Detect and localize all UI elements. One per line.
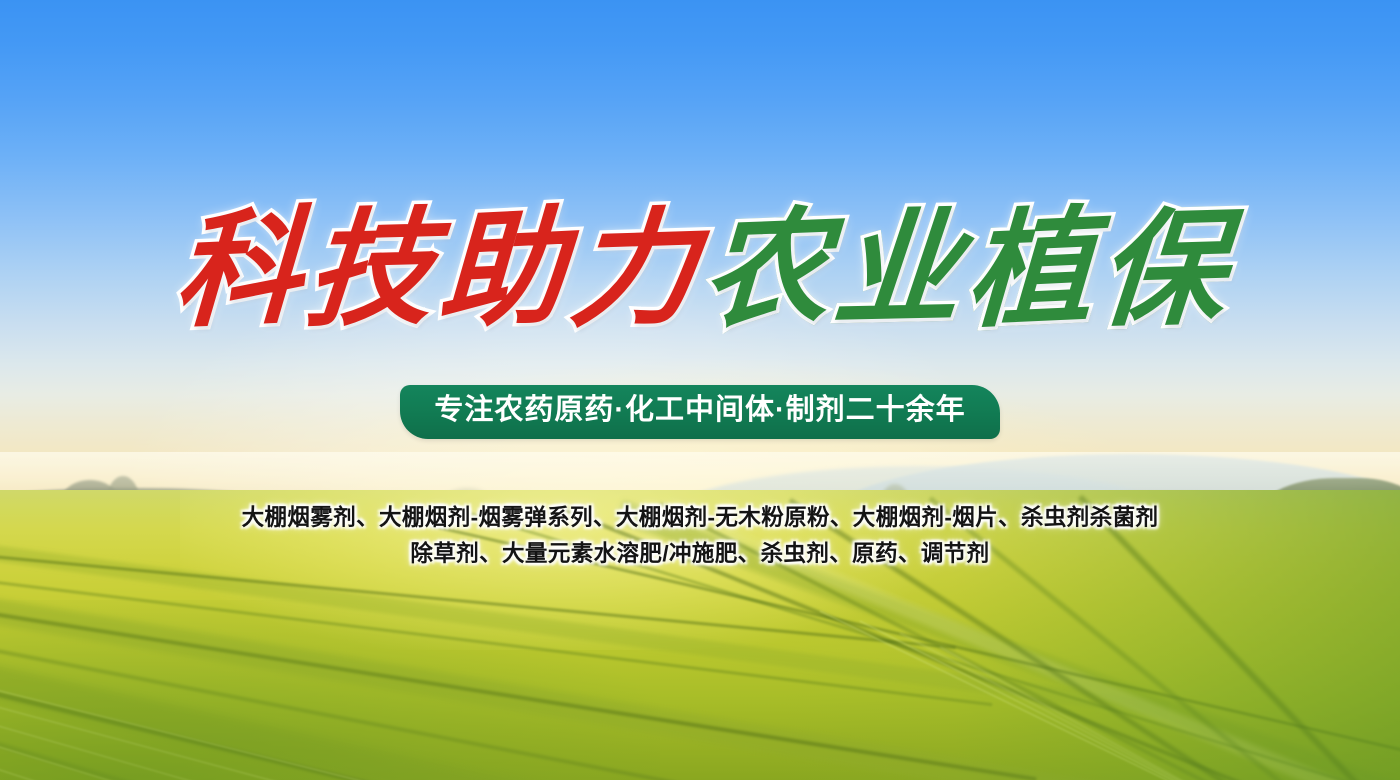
field-furrow <box>0 574 992 706</box>
field-boundary-band <box>697 517 1400 780</box>
field-furrow <box>0 552 956 649</box>
field-boundary-band <box>616 501 1400 780</box>
field-green-tint-right <box>780 490 1400 780</box>
field-sunlit-patch <box>180 490 940 650</box>
subtitle-container: 专注农药原药·化工中间体·制剂二十余年 <box>0 385 1400 439</box>
field-crop-rows <box>900 632 1400 780</box>
field-furrow <box>928 497 1400 780</box>
field-crop-rows <box>0 756 550 780</box>
field-furrow <box>0 666 882 780</box>
field-furrow <box>470 512 1400 780</box>
field-furrow <box>1078 495 1400 780</box>
field-furrow <box>0 632 971 780</box>
field-boundary-band <box>0 538 1170 718</box>
field-furrow <box>430 524 1400 763</box>
field-boundary-band <box>0 640 1036 780</box>
field-furrow <box>0 742 681 780</box>
field-furrow <box>659 502 1400 780</box>
field-crop-rows <box>820 610 1396 780</box>
field-crop-rows <box>0 680 639 780</box>
field-furrow <box>0 704 782 780</box>
field-furrow <box>789 498 1400 780</box>
field-crop-rows <box>860 620 1400 780</box>
field-crop-rows <box>940 646 1400 780</box>
hero-banner: 科技助力农业植保 专注农药原药·化工中间体·制剂二十余年 大棚烟雾剂、大棚烟剂-… <box>0 0 1400 780</box>
field-furrow <box>559 506 1400 780</box>
field-crop-rows <box>0 714 595 780</box>
field-crop-rows <box>0 696 617 780</box>
subtitle-pill: 专注农药原药·化工中间体·制剂二十余年 <box>400 385 999 439</box>
field-crop-rows <box>0 734 572 780</box>
field-furrow <box>0 602 1037 780</box>
crop-field <box>0 490 1400 780</box>
field-boundary-band <box>0 586 1224 780</box>
field-green-tint-left <box>0 600 660 780</box>
